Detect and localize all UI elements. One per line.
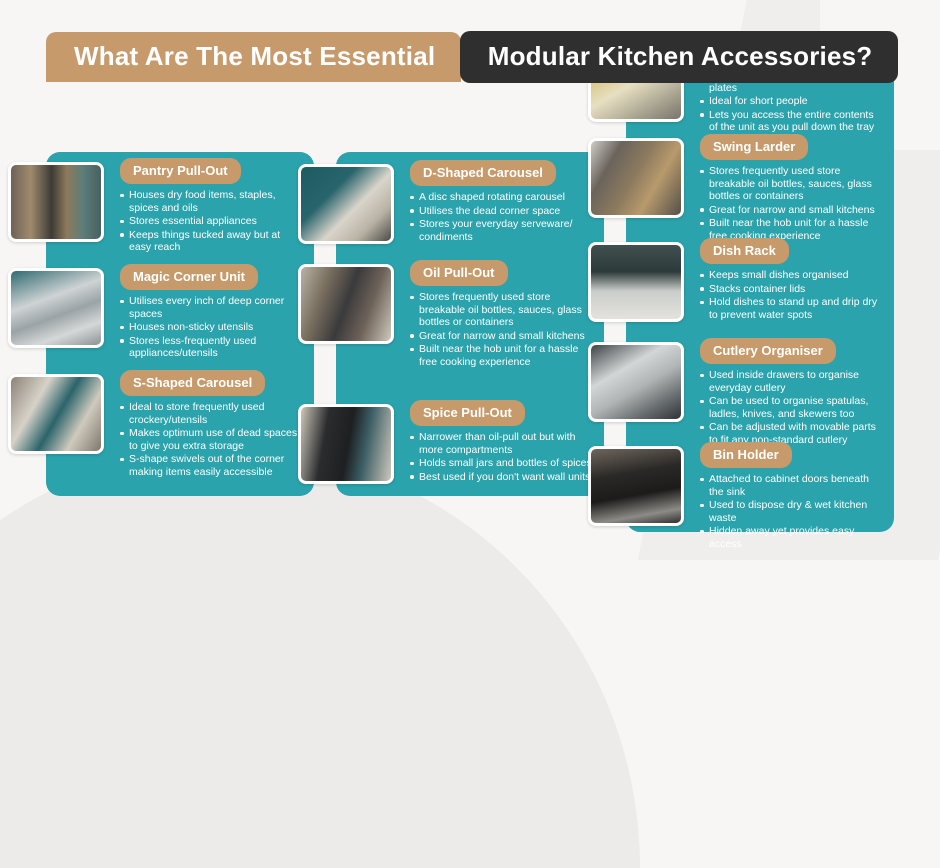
thumbnail-image xyxy=(11,165,101,239)
page-title: What Are The Most Essential Modular Kitc… xyxy=(46,32,898,83)
accessory-entry: D-Shaped CarouselA disc shaped rotating … xyxy=(336,160,604,244)
accessory-title-badge: Bin Holder xyxy=(700,442,792,468)
accessory-title-badge: Magic Corner Unit xyxy=(120,264,258,290)
cutlery-organiser-photo xyxy=(588,342,684,422)
thumbnail-image xyxy=(591,245,681,319)
feature-bullet: Best used if you don't want wall units xyxy=(410,471,594,484)
spice-pull-out-photo xyxy=(298,404,394,484)
feature-bullet: Stores frequently used store breakable o… xyxy=(700,165,884,203)
feature-bullet: Built near the hob unit for a hassle fre… xyxy=(410,343,594,368)
feature-bullet: Houses dry food items, staples, spices a… xyxy=(120,189,304,214)
swing-larder-photo xyxy=(588,138,684,218)
magic-corner-unit-photo xyxy=(8,268,104,348)
column-right: Pegasus Wall UnitAn in-built tray to sto… xyxy=(626,34,894,532)
feature-bullet: Stores less-frequently used appliances/u… xyxy=(120,335,304,360)
thumbnail-image xyxy=(591,449,681,523)
accessory-title-badge: Cutlery Organiser xyxy=(700,338,836,364)
thumbnail-image xyxy=(301,407,391,481)
accessory-entry: Cutlery OrganiserUsed inside drawers to … xyxy=(626,338,894,448)
thumbnail-image xyxy=(11,271,101,345)
accessory-entry: Swing LarderStores frequently used store… xyxy=(626,134,894,244)
accessory-entry: S-Shaped CarouselIdeal to store frequent… xyxy=(46,370,314,480)
feature-bullet: Attached to cabinet doors beneath the si… xyxy=(700,473,884,498)
feature-bullet: Great for narrow and small kitchens xyxy=(700,204,884,217)
pantry-pull-out-photo xyxy=(8,162,104,242)
thumbnail-image xyxy=(301,267,391,341)
feature-bullet: Stores your everyday serveware/ condimen… xyxy=(410,218,594,243)
d-shaped-carousel-photo xyxy=(298,164,394,244)
feature-bullet: Hold dishes to stand up and drip dry to … xyxy=(700,296,884,321)
oil-pull-out-photo xyxy=(298,264,394,344)
column-left: Pantry Pull-OutHouses dry food items, st… xyxy=(46,152,314,496)
accessory-feature-list: Used inside drawers to organise everyday… xyxy=(700,369,884,447)
dish-rack-photo xyxy=(588,242,684,322)
accessory-title-badge: Dish Rack xyxy=(700,238,789,264)
accessory-panel: D-Shaped CarouselA disc shaped rotating … xyxy=(336,152,604,496)
feature-bullet: Stores essential appliances xyxy=(120,215,304,228)
accessory-panel: Pantry Pull-OutHouses dry food items, st… xyxy=(46,152,314,496)
accessory-title-badge: Oil Pull-Out xyxy=(410,260,508,286)
feature-bullet: Stores frequently used store breakable o… xyxy=(410,291,594,329)
accessory-title-badge: S-Shaped Carousel xyxy=(120,370,265,396)
accessory-entry: Pantry Pull-OutHouses dry food items, st… xyxy=(46,158,314,255)
thumbnail-image xyxy=(591,141,681,215)
feature-bullet: Stacks container lids xyxy=(700,283,884,296)
accessory-feature-list: Keeps small dishes organisedStacks conta… xyxy=(700,269,884,321)
feature-bullet: Narrower than oil-pull out but with more… xyxy=(410,431,594,456)
accessory-feature-list: Stores frequently used store breakable o… xyxy=(410,291,594,369)
accessory-entry: Dish RackKeeps small dishes organisedSta… xyxy=(626,238,894,322)
accessory-entry: Spice Pull-OutNarrower than oil-pull out… xyxy=(336,400,604,484)
feature-bullet: Used to dispose dry & wet kitchen waste xyxy=(700,499,884,524)
accessory-entry: Magic Corner UnitUtilises every inch of … xyxy=(46,264,314,361)
accessory-feature-list: Houses dry food items, staples, spices a… xyxy=(120,189,304,254)
feature-bullet: Utilises every inch of deep corner space… xyxy=(120,295,304,320)
accessory-entry: Oil Pull-OutStores frequently used store… xyxy=(336,260,604,370)
accessory-panel: Pegasus Wall UnitAn in-built tray to sto… xyxy=(626,34,894,532)
s-shaped-carousel-photo xyxy=(8,374,104,454)
feature-bullet: Ideal for short people xyxy=(700,95,884,108)
accessory-title-badge: Swing Larder xyxy=(700,134,808,160)
accessory-feature-list: Utilises every inch of deep corner space… xyxy=(120,295,304,360)
accessory-feature-list: A disc shaped rotating carouselUtilises … xyxy=(410,191,594,243)
accessory-title-badge: D-Shaped Carousel xyxy=(410,160,556,186)
feature-bullet: Keeps things tucked away but at easy rea… xyxy=(120,229,304,254)
accessory-feature-list: Attached to cabinet doors beneath the si… xyxy=(700,473,884,551)
feature-bullet: Can be used to organise spatulas, ladles… xyxy=(700,395,884,420)
feature-bullet: Used inside drawers to organise everyday… xyxy=(700,369,884,394)
accessory-feature-list: Stores frequently used store breakable o… xyxy=(700,165,884,243)
feature-bullet: Great for narrow and small kitchens xyxy=(410,330,594,343)
title-line-secondary: Modular Kitchen Accessories? xyxy=(460,31,899,83)
thumbnail-image xyxy=(591,345,681,419)
background-decoration-bottom xyxy=(0,448,640,868)
accessory-entry: Bin HolderAttached to cabinet doors bene… xyxy=(626,442,894,552)
feature-bullet: Holds small jars and bottles of spices xyxy=(410,457,594,470)
feature-bullet: Houses non-sticky utensils xyxy=(120,321,304,334)
feature-bullet: Keeps small dishes organised xyxy=(700,269,884,282)
column-middle: D-Shaped CarouselA disc shaped rotating … xyxy=(336,152,604,496)
accessory-title-badge: Spice Pull-Out xyxy=(410,400,525,426)
thumbnail-image xyxy=(11,377,101,451)
feature-bullet: Makes optimum use of dead spaces to give… xyxy=(120,427,304,452)
accessory-feature-list: Narrower than oil-pull out but with more… xyxy=(410,431,594,483)
accessory-title-badge: Pantry Pull-Out xyxy=(120,158,241,184)
feature-bullet: Lets you access the entire contents of t… xyxy=(700,109,884,134)
feature-bullet: S-shape swivels out of the corner making… xyxy=(120,453,304,478)
feature-bullet: Ideal to store frequently used crockery/… xyxy=(120,401,304,426)
thumbnail-image xyxy=(301,167,391,241)
feature-bullet: Utilises the dead corner space xyxy=(410,205,594,218)
title-line-primary: What Are The Most Essential xyxy=(46,32,461,82)
accessory-feature-list: Ideal to store frequently used crockery/… xyxy=(120,401,304,479)
bin-holder-photo xyxy=(588,446,684,526)
feature-bullet: Hidden away yet provides easy access xyxy=(700,525,884,550)
feature-bullet: A disc shaped rotating carousel xyxy=(410,191,594,204)
